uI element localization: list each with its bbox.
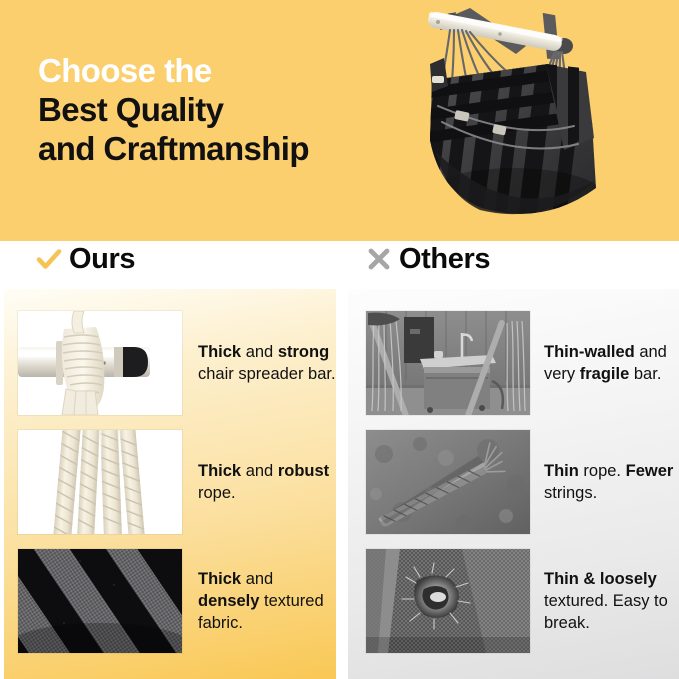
- column-header-ours: Ours: [34, 244, 135, 274]
- ours-image-fabric: [18, 549, 182, 653]
- caption-bold: Thin-walled: [544, 343, 635, 361]
- caption-text: and: [241, 570, 273, 588]
- others-column: Thin-walled and very fragile bar.: [348, 289, 679, 679]
- ours-image-spreader-bar: [18, 311, 182, 415]
- caption-bold: robust: [278, 462, 329, 480]
- others-caption-2: Thin rope. Fewer strings.: [544, 460, 679, 504]
- ours-image-rope: [18, 430, 182, 534]
- caption-bold: Thick: [198, 343, 241, 361]
- headline-line-2: Best Quality: [38, 91, 309, 130]
- column-label-ours: Ours: [69, 245, 135, 274]
- header-banner: Choose the Best Quality and Craftmanship: [0, 0, 679, 241]
- ours-caption-1: Thick and strong chair spreader bar.: [198, 341, 336, 385]
- caption-text: bar.: [629, 365, 661, 383]
- comparison-row: Thick and densely textured fabric.: [4, 544, 336, 658]
- comparison-row: Thin & loosely textured. Easy to break.: [348, 544, 679, 658]
- others-image-torn-fabric: [366, 549, 530, 653]
- caption-text: rope.: [198, 484, 236, 502]
- caption-bold: strong: [278, 343, 329, 361]
- caption-bold: Thick: [198, 462, 241, 480]
- caption-bold: densely: [198, 592, 259, 610]
- page-title: Choose the Best Quality and Craftmanship: [38, 52, 309, 169]
- ours-column: Thick and strong chair spreader bar.: [4, 289, 336, 679]
- caption-bold: Fewer: [626, 462, 674, 480]
- caption-bold: Thick: [198, 570, 241, 588]
- hammock-chair-image: [396, 2, 674, 236]
- ours-caption-3: Thick and densely textured fabric.: [198, 568, 336, 634]
- comparison-row: Thin rope. Fewer strings.: [348, 425, 679, 539]
- column-label-band: Ours Others: [0, 241, 679, 289]
- others-image-thin-bar: [366, 311, 530, 415]
- ours-caption-2: Thick and robust rope.: [198, 460, 336, 504]
- comparison-row: Thick and strong chair spreader bar.: [4, 306, 336, 420]
- column-gutter: [336, 289, 348, 679]
- cross-icon: [364, 244, 394, 274]
- others-caption-1: Thin-walled and very fragile bar.: [544, 341, 679, 385]
- caption-text: chair spreader bar.: [198, 365, 336, 383]
- caption-bold: Thin: [544, 462, 579, 480]
- caption-text: strings.: [544, 484, 597, 502]
- column-header-others: Others: [364, 244, 490, 274]
- column-label-others: Others: [399, 245, 490, 274]
- comparison-infographic: Choose the Best Quality and Craftmanship: [0, 0, 679, 679]
- caption-bold: fragile: [580, 365, 630, 383]
- check-icon: [34, 244, 64, 274]
- caption-text: rope.: [579, 462, 626, 480]
- headline-line-3: and Craftmanship: [38, 130, 309, 169]
- caption-text: and: [241, 462, 278, 480]
- others-caption-3: Thin & loosely textured. Easy to break.: [544, 568, 679, 634]
- headline-line-1: Choose the: [38, 52, 309, 91]
- comparison-row: Thick and robust rope.: [4, 425, 336, 539]
- caption-text: textured. Easy to break.: [544, 592, 668, 632]
- caption-bold: Thin & loosely: [544, 570, 657, 588]
- others-image-thin-rope: [366, 430, 530, 534]
- comparison-row: Thin-walled and very fragile bar.: [348, 306, 679, 420]
- caption-text: and: [241, 343, 278, 361]
